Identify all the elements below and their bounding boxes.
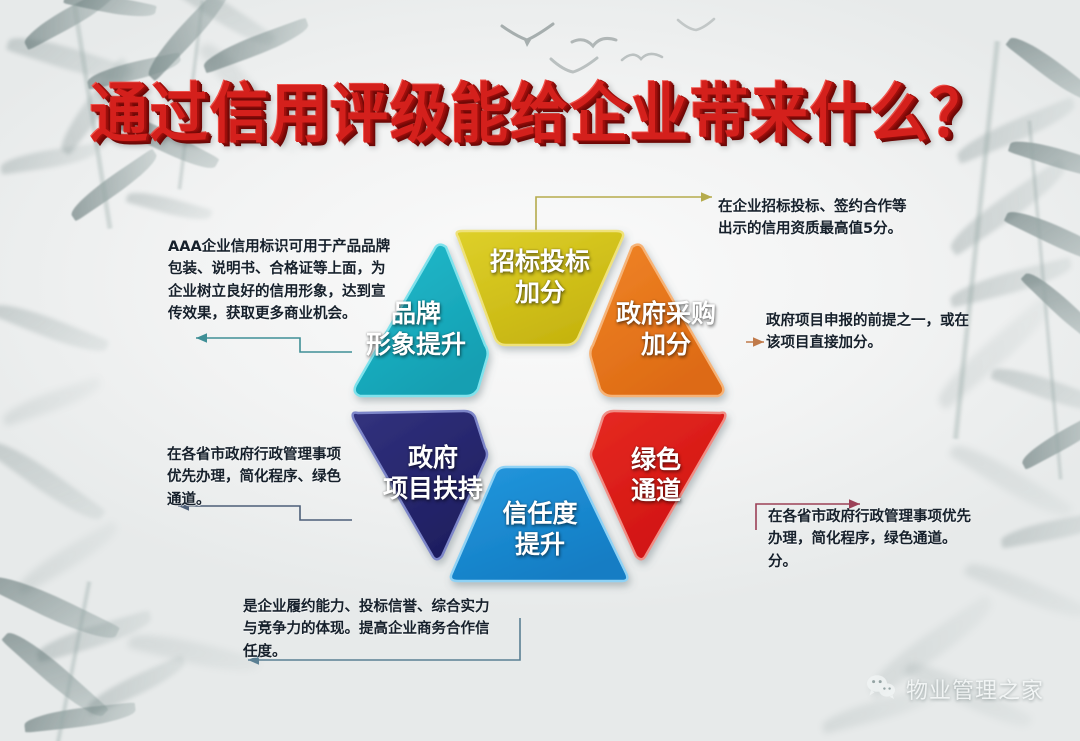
note-bidding: 在企业招标投标、签约合作等出示的信用资质最高值5分。 — [718, 196, 914, 241]
watermark: 物业管理之家 — [866, 673, 1044, 705]
note-green-channel: 在各省市政府行政管理事项优先办理，简化程序，绿色通道。分。 — [768, 506, 982, 573]
segment-bidding[interactable] — [457, 231, 623, 345]
note-trust-improvement: 是企业履约能力、投标信誉、综合实力与竞争力的体现。提高企业商务合作信任度。 — [243, 596, 493, 663]
note-government-procurement: 政府项目申报的前提之一，或在该项目直接加分。 — [766, 310, 976, 355]
bird-icon — [570, 32, 618, 54]
poster-canvas: 通过信用评级能给企业带来什么？ — [0, 0, 1080, 741]
bird-icon — [676, 16, 716, 34]
note-government-project-support: 在各省市政府行政管理事项优先办理，简化程序、绿色通道。 — [167, 444, 353, 511]
page-title: 通过信用评级能给企业带来什么？ — [90, 61, 990, 155]
watermark-text: 物业管理之家 — [906, 673, 1044, 705]
wechat-icon — [866, 674, 896, 705]
note-brand-image: AAA企业信用标识可用于产品品牌包装、说明书、合格证等上面，为企业树立良好的信用… — [168, 236, 396, 326]
segment-green-channel[interactable] — [591, 411, 725, 559]
segment-trust-improvement[interactable] — [451, 467, 627, 581]
poster-title-container: 通过信用评级能给企业带来什么？ — [0, 66, 1080, 150]
bird-icon — [500, 22, 556, 48]
